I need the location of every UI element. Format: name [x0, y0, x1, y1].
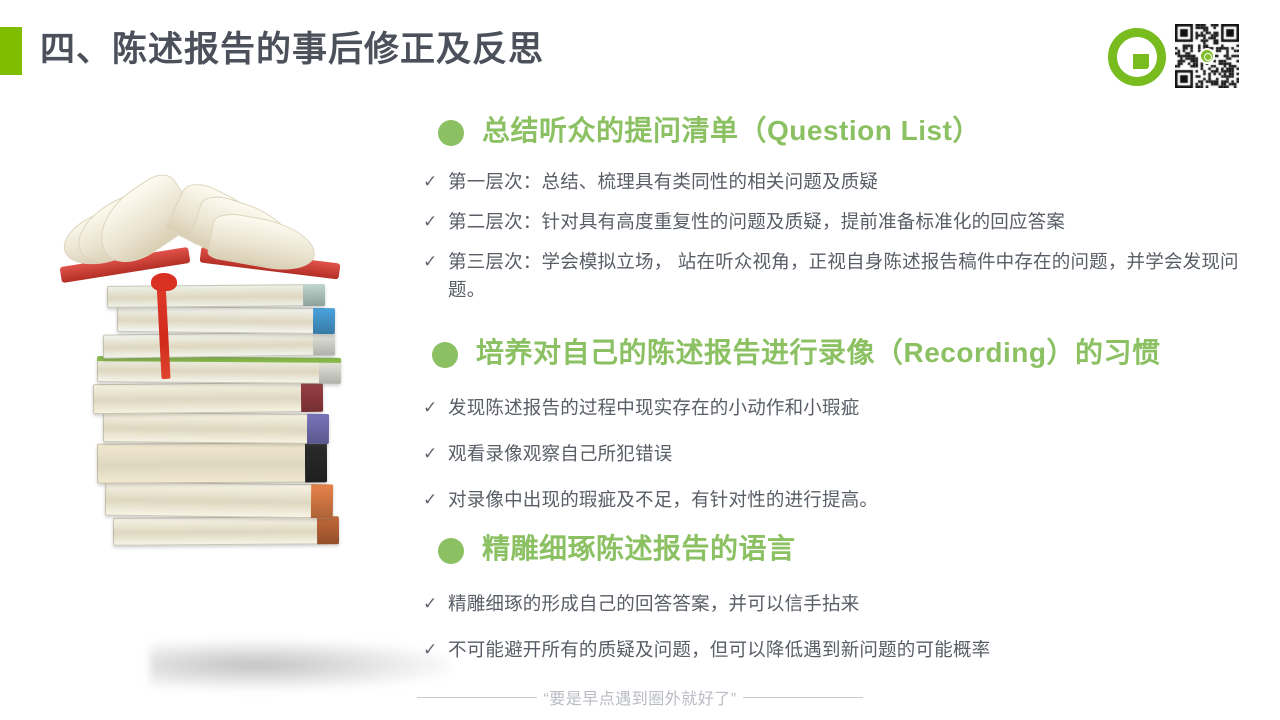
check-icon: ✓ — [420, 590, 448, 618]
book-spine — [317, 516, 339, 544]
heading-bullet-icon — [438, 538, 464, 564]
check-icon: ✓ — [420, 440, 448, 468]
list-item: ✓ 第一层次：总结、梳理具有类同性的相关问题及质疑 — [420, 168, 1260, 196]
list-item-label: 发现陈述报告的过程中现实存在的小动作和小瑕疵 — [448, 394, 1260, 422]
q-logo-tail — [1133, 54, 1149, 69]
section-heading: 培养对自己的陈述报告进行录像（Recording）的习惯 — [420, 332, 1260, 376]
section-heading: 总结听众的提问清单（Question List） — [420, 110, 1260, 154]
list-item-label: 第三层次：学会模拟立场， 站在听众视角，正视自身陈述报告稿件中存在的问题，并学会… — [448, 248, 1260, 304]
list-item-label: 不可能避开所有的质疑及问题，但可以降低遇到新问题的可能概率 — [448, 636, 1260, 664]
bullet-list: ✓ 发现陈述报告的过程中现实存在的小动作和小瑕疵 ✓ 观看录像观察自己所犯错误 … — [420, 394, 1260, 532]
books-drop-shadow — [150, 640, 450, 690]
footer-label: “要是早点遇到圈外就好了” — [537, 685, 742, 709]
red-ribbon-knot — [151, 273, 177, 291]
check-icon: ✓ — [420, 486, 448, 514]
list-item: ✓ 观看录像观察自己所犯错误 — [420, 440, 1260, 468]
q-logo-icon — [1106, 26, 1164, 84]
section-heading: 精雕细琢陈述报告的语言 — [420, 528, 1260, 572]
book-pages — [105, 482, 333, 519]
qr-center-logo-icon — [1199, 48, 1215, 64]
bullet-list: ✓ 精雕细琢的形成自己的回答答案，并可以信手拈来 ✓ 不可能避开所有的质疑及问题… — [420, 590, 1260, 682]
page-title: 四、陈述报告的事后修正及反思 — [40, 26, 544, 74]
book-pages — [103, 331, 335, 358]
check-icon: ✓ — [420, 394, 448, 422]
list-item-label: 第二层次：针对具有高度重复性的问题及质疑，提前准备标准化的回应答案 — [448, 208, 1260, 236]
book-green-edge — [97, 356, 341, 384]
section-heading-label: 精雕细琢陈述报告的语言 — [482, 528, 796, 570]
book-maroon — [93, 382, 323, 414]
book-purple — [103, 412, 329, 444]
slide-content: 总结听众的提问清单（Question List） ✓ 第一层次：总结、梳理具有类… — [420, 110, 1260, 670]
bullet-list: ✓ 第一层次：总结、梳理具有类同性的相关问题及质疑 ✓ 第二层次：针对具有高度重… — [420, 168, 1260, 316]
book-orange — [105, 482, 333, 519]
book-pages — [93, 382, 323, 414]
section-language-polish: 精雕细琢陈述报告的语言 ✓ 精雕细琢的形成自己的回答答案，并可以信手拈来 ✓ 不… — [420, 528, 1260, 572]
list-item: ✓ 第二层次：针对具有高度重复性的问题及质疑，提前准备标准化的回应答案 — [420, 208, 1260, 236]
book-mint — [107, 284, 325, 308]
check-icon: ✓ — [420, 636, 448, 664]
footer-rule-left — [417, 697, 537, 698]
section-question-list: 总结听众的提问清单（Question List） ✓ 第一层次：总结、梳理具有类… — [420, 110, 1260, 154]
list-item: ✓ 发现陈述报告的过程中现实存在的小动作和小瑕疵 — [420, 394, 1260, 422]
book-pages — [97, 442, 327, 483]
book-pages — [103, 412, 329, 444]
book-pages — [117, 306, 335, 334]
section-heading-label: 培养对自己的陈述报告进行录像（Recording）的习惯 — [476, 332, 1160, 374]
check-icon: ✓ — [420, 208, 448, 236]
check-icon: ✓ — [420, 248, 448, 276]
book-spine — [301, 382, 323, 412]
q-logo-dot — [1152, 70, 1159, 77]
book-spine — [311, 484, 333, 518]
book-spine — [303, 284, 325, 306]
book-pages — [107, 284, 325, 308]
book-spine — [305, 442, 327, 482]
list-item: ✓ 精雕细琢的形成自己的回答答案，并可以信手拈来 — [420, 590, 1260, 618]
book-white — [103, 331, 335, 358]
book-spine — [307, 414, 329, 444]
book-terracotta — [113, 516, 339, 546]
list-item: ✓ 不可能避开所有的质疑及问题，但可以降低遇到新问题的可能概率 — [420, 636, 1260, 664]
section-heading-label: 总结听众的提问清单（Question List） — [482, 110, 981, 152]
book-spine — [313, 308, 335, 334]
list-item: ✓ 对录像中出现的瑕疵及不足，有针对性的进行提高。 — [420, 486, 1260, 514]
check-icon: ✓ — [420, 168, 448, 196]
list-item-label: 对录像中出现的瑕疵及不足，有针对性的进行提高。 — [448, 486, 1260, 514]
section-recording: 培养对自己的陈述报告进行录像（Recording）的习惯 ✓ 发现陈述报告的过程… — [420, 332, 1260, 376]
list-item-label: 观看录像观察自己所犯错误 — [448, 440, 1260, 468]
qr-code-icon — [1175, 24, 1239, 88]
list-item-label: 第一层次：总结、梳理具有类同性的相关问题及质疑 — [448, 168, 1260, 196]
book-pages — [113, 516, 339, 546]
heading-bullet-icon — [432, 342, 458, 368]
footer-rule-right — [743, 697, 863, 698]
book-blue — [117, 306, 335, 334]
book-spine — [313, 331, 335, 355]
list-item-label: 精雕细琢的形成自己的回答答案，并可以信手拈来 — [448, 590, 1260, 618]
list-item: ✓ 第三层次：学会模拟立场， 站在听众视角，正视自身陈述报告稿件中存在的问题，并… — [420, 248, 1260, 304]
title-accent-bar — [0, 27, 22, 75]
slide-footer: “要是早点遇到圈外就好了” — [0, 684, 1280, 710]
open-book-page — [207, 210, 320, 276]
heading-bullet-icon — [438, 120, 464, 146]
slide-header: 四、陈述报告的事后修正及反思 — [0, 0, 1280, 100]
stack-of-books-image — [55, 185, 400, 600]
book-black — [97, 442, 327, 483]
